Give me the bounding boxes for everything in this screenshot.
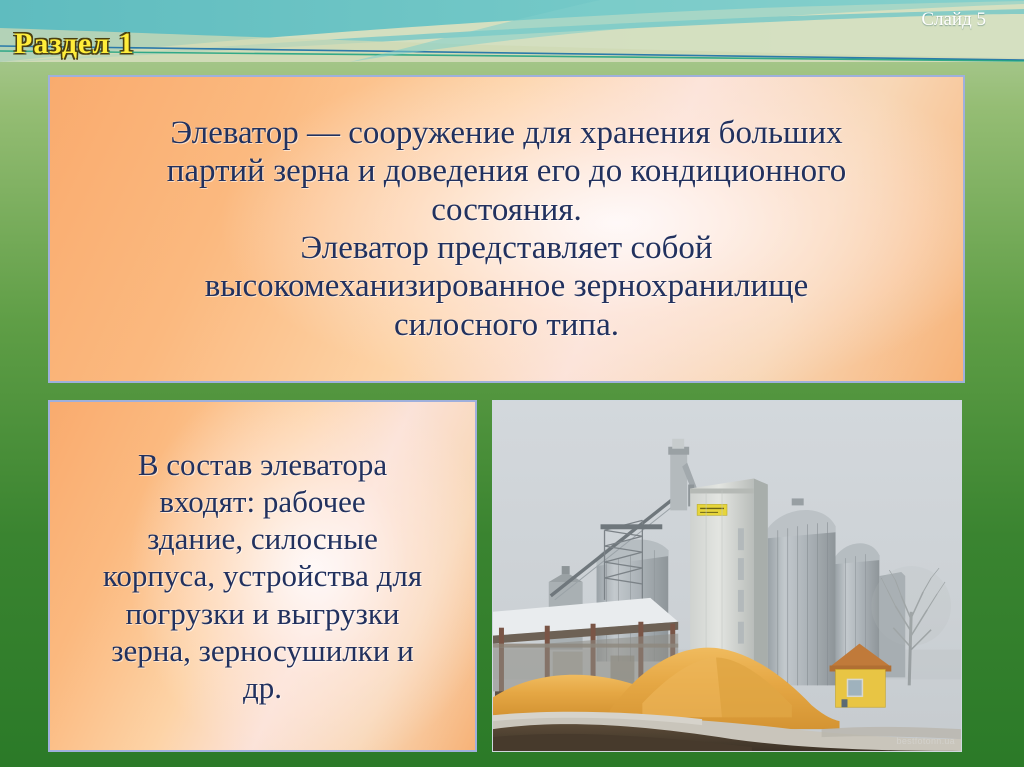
header-wave-graphic xyxy=(0,0,1024,62)
text-line: высокомеханизированное зернохранилище xyxy=(76,267,937,305)
presentation-slide: Раздел 1 Слайд 5 Элеватор — сооружение д… xyxy=(0,0,1024,767)
text-line: зерна, зерносушилки и xyxy=(68,632,457,669)
components-text: В состав элеваторавходят: рабочеездание,… xyxy=(50,446,475,706)
text-line: В состав элеватора xyxy=(68,446,457,483)
text-line: партий зерна и доведения его до кондицио… xyxy=(76,152,937,190)
text-line: силосного типа. xyxy=(76,306,937,344)
text-line: здание, силосные xyxy=(68,520,457,557)
grain-elevator-illustration xyxy=(493,401,961,751)
slide-number-label: Слайд 5 xyxy=(921,9,986,31)
text-line: Элеватор представляет собой xyxy=(76,229,937,267)
section-title: Раздел 1 xyxy=(14,27,135,61)
definition-panel: Элеватор — сооружение для хранения больш… xyxy=(48,75,965,383)
definition-text: Элеватор — сооружение для хранения больш… xyxy=(50,114,963,344)
slide-header-banner xyxy=(0,0,1024,62)
text-line: входят: рабочее xyxy=(68,483,457,520)
text-line: др. xyxy=(68,669,457,706)
text-line: состояния. xyxy=(76,191,937,229)
grain-elevator-photo: bestfotonn.ua xyxy=(492,400,962,752)
text-line: корпуса, устройства для xyxy=(68,557,457,594)
text-line: погрузки и выгрузки xyxy=(68,595,457,632)
components-panel: В состав элеваторавходят: рабочеездание,… xyxy=(48,400,477,752)
text-line: Элеватор — сооружение для хранения больш… xyxy=(76,114,937,152)
